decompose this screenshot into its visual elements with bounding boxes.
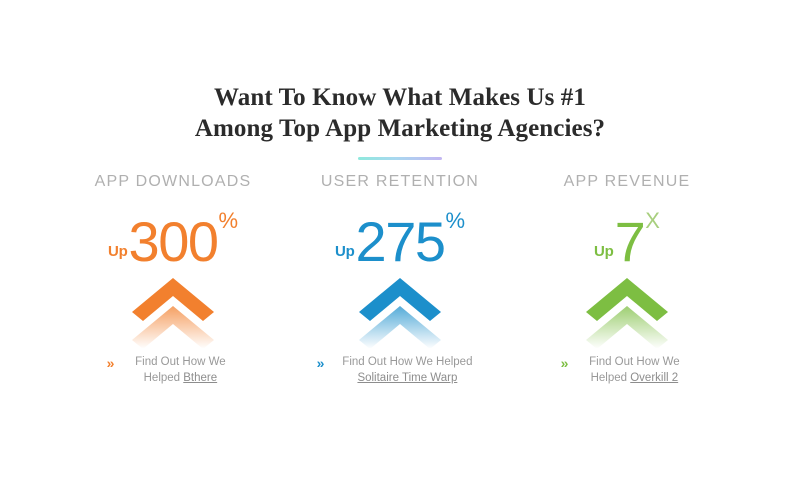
stat-heading: APP DOWNLOADS [60,172,286,192]
stat-up-label: Up [594,244,614,268]
case-study-link-text[interactable]: Find Out How We Helped Overkill 2 [575,354,693,386]
stat-number: 7 [615,216,645,268]
stat-up-label: Up [108,244,128,268]
stat-value-group: Up 275 % [287,206,513,268]
stat-number: 300 [129,216,218,268]
gradient-divider [358,157,442,160]
stat-suffix: % [218,206,238,232]
case-study-link-text[interactable]: Find Out How We Helped Solitaire Time Wa… [331,354,483,386]
stat-up-label: Up [335,244,355,268]
stat-column-app-revenue: APP REVENUE Up 7 X [514,172,740,386]
double-chevron-right-icon: » [561,354,569,372]
double-chevron-right-icon: » [317,354,325,372]
headline-line-2: Among Top App Marketing Agencies? [0,113,800,144]
stat-heading: APP REVENUE [514,172,740,192]
double-chevron-right-icon: » [107,354,115,372]
stat-suffix: X [645,206,660,232]
link-target[interactable]: Overkill 2 [630,372,678,384]
case-study-link[interactable]: » Find Out How We Helped Overkill 2 [514,354,740,386]
stat-value-group: Up 300 % [60,206,286,268]
double-chevron-up-icon [60,276,286,348]
link-prefix: Find Out How We Helped [342,356,472,368]
double-chevron-up-icon [514,276,740,348]
stat-number: 275 [356,216,445,268]
headline-line-1: Want To Know What Makes Us #1 [0,82,800,113]
stat-column-app-downloads: APP DOWNLOADS Up 300 % [60,172,286,386]
stat-column-user-retention: USER RETENTION Up 275 % [287,172,513,386]
divider-container [0,157,800,160]
case-study-link-text[interactable]: Find Out How We Helped Bthere [121,354,239,386]
page-title: Want To Know What Makes Us #1 Among Top … [0,82,800,144]
stats-columns: APP DOWNLOADS Up 300 % [60,172,740,386]
double-chevron-up-icon [287,276,513,348]
link-target[interactable]: Bthere [183,372,217,384]
stat-suffix: % [445,206,465,232]
case-study-link[interactable]: » Find Out How We Helped Solitaire Time … [287,354,513,386]
infographic-page: Want To Know What Makes Us #1 Among Top … [0,0,800,480]
stat-heading: USER RETENTION [287,172,513,192]
case-study-link[interactable]: » Find Out How We Helped Bthere [60,354,286,386]
stat-value-group: Up 7 X [514,206,740,268]
link-target[interactable]: Solitaire Time Warp [357,372,457,384]
